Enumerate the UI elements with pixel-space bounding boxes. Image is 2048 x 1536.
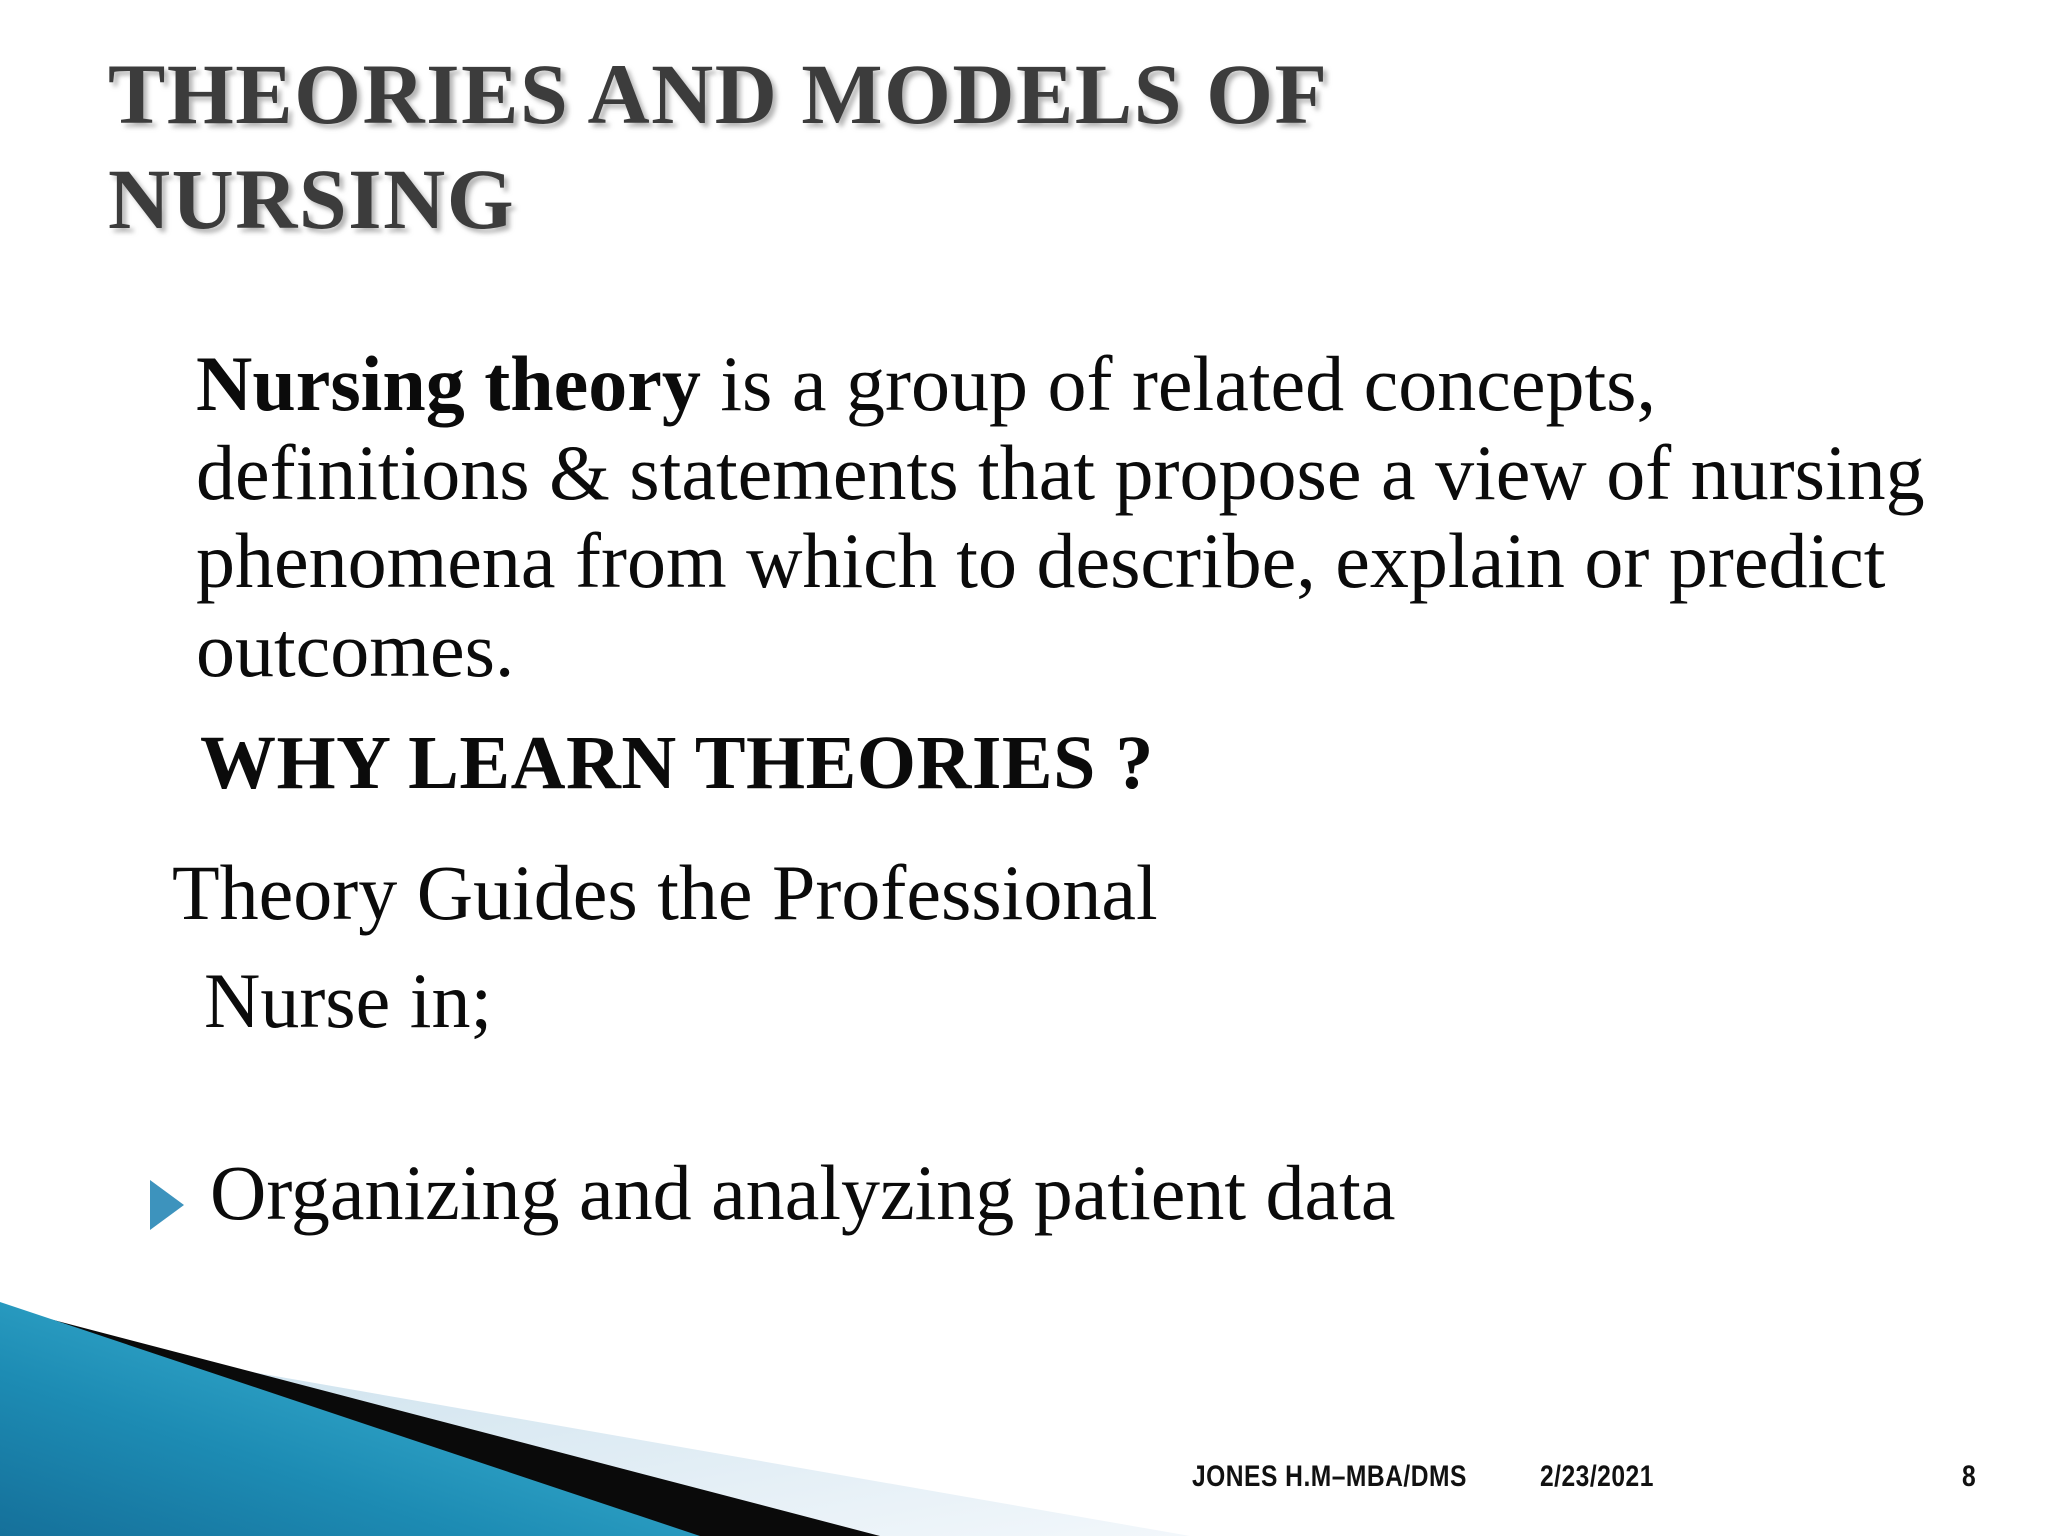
theory-guides-line-2: Nurse in; bbox=[204, 956, 492, 1046]
list-item: Organizing and analyzing patient data bbox=[150, 1152, 1395, 1234]
page-title: THEORIES AND MODELS OF NURSING bbox=[108, 42, 1668, 252]
footer-date: 2/23/2021 bbox=[1540, 1460, 1654, 1494]
list-item-label: Organizing and analyzing patient data bbox=[210, 1152, 1395, 1234]
why-learn-theories-heading: WHY LEARN THEORIES ? bbox=[200, 720, 1154, 807]
theory-guides-line-1: Theory Guides the Professional bbox=[172, 848, 1158, 938]
slide-footer: JONES H.M–MBA/DMS 2/23/2021 8 bbox=[0, 1452, 2048, 1512]
triangle-bullet-icon bbox=[150, 1180, 184, 1230]
footer-author: JONES H.M–MBA/DMS bbox=[1192, 1460, 1467, 1494]
slide-canvas: THEORIES AND MODELS OF NURSING Nursing t… bbox=[0, 0, 2048, 1536]
footer-page-number: 8 bbox=[1962, 1460, 1976, 1494]
definition-paragraph: Nursing theory is a group of related con… bbox=[196, 340, 1936, 694]
slide-title-block: THEORIES AND MODELS OF NURSING bbox=[108, 42, 1668, 252]
definition-lead-term: Nursing theory bbox=[196, 340, 701, 427]
